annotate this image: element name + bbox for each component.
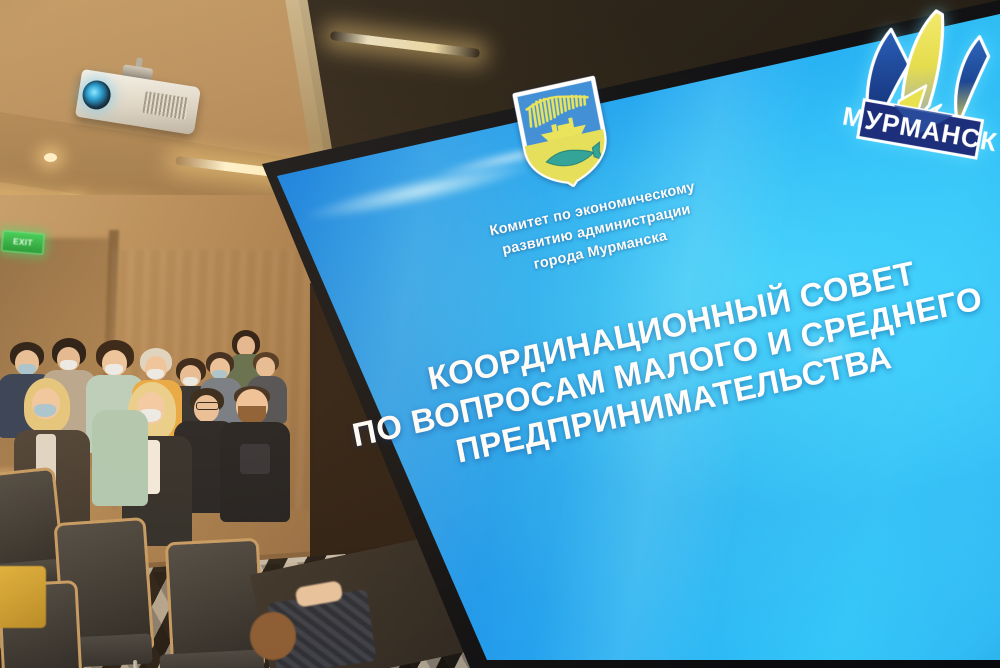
ceiling-downlight	[44, 153, 57, 162]
photo-scene: EXIT	[0, 0, 1000, 668]
person-foreground-head	[250, 612, 296, 660]
floor-bag	[0, 566, 46, 628]
exit-sign-label: EXIT	[13, 237, 33, 248]
exit-sign: EXIT	[1, 230, 45, 255]
